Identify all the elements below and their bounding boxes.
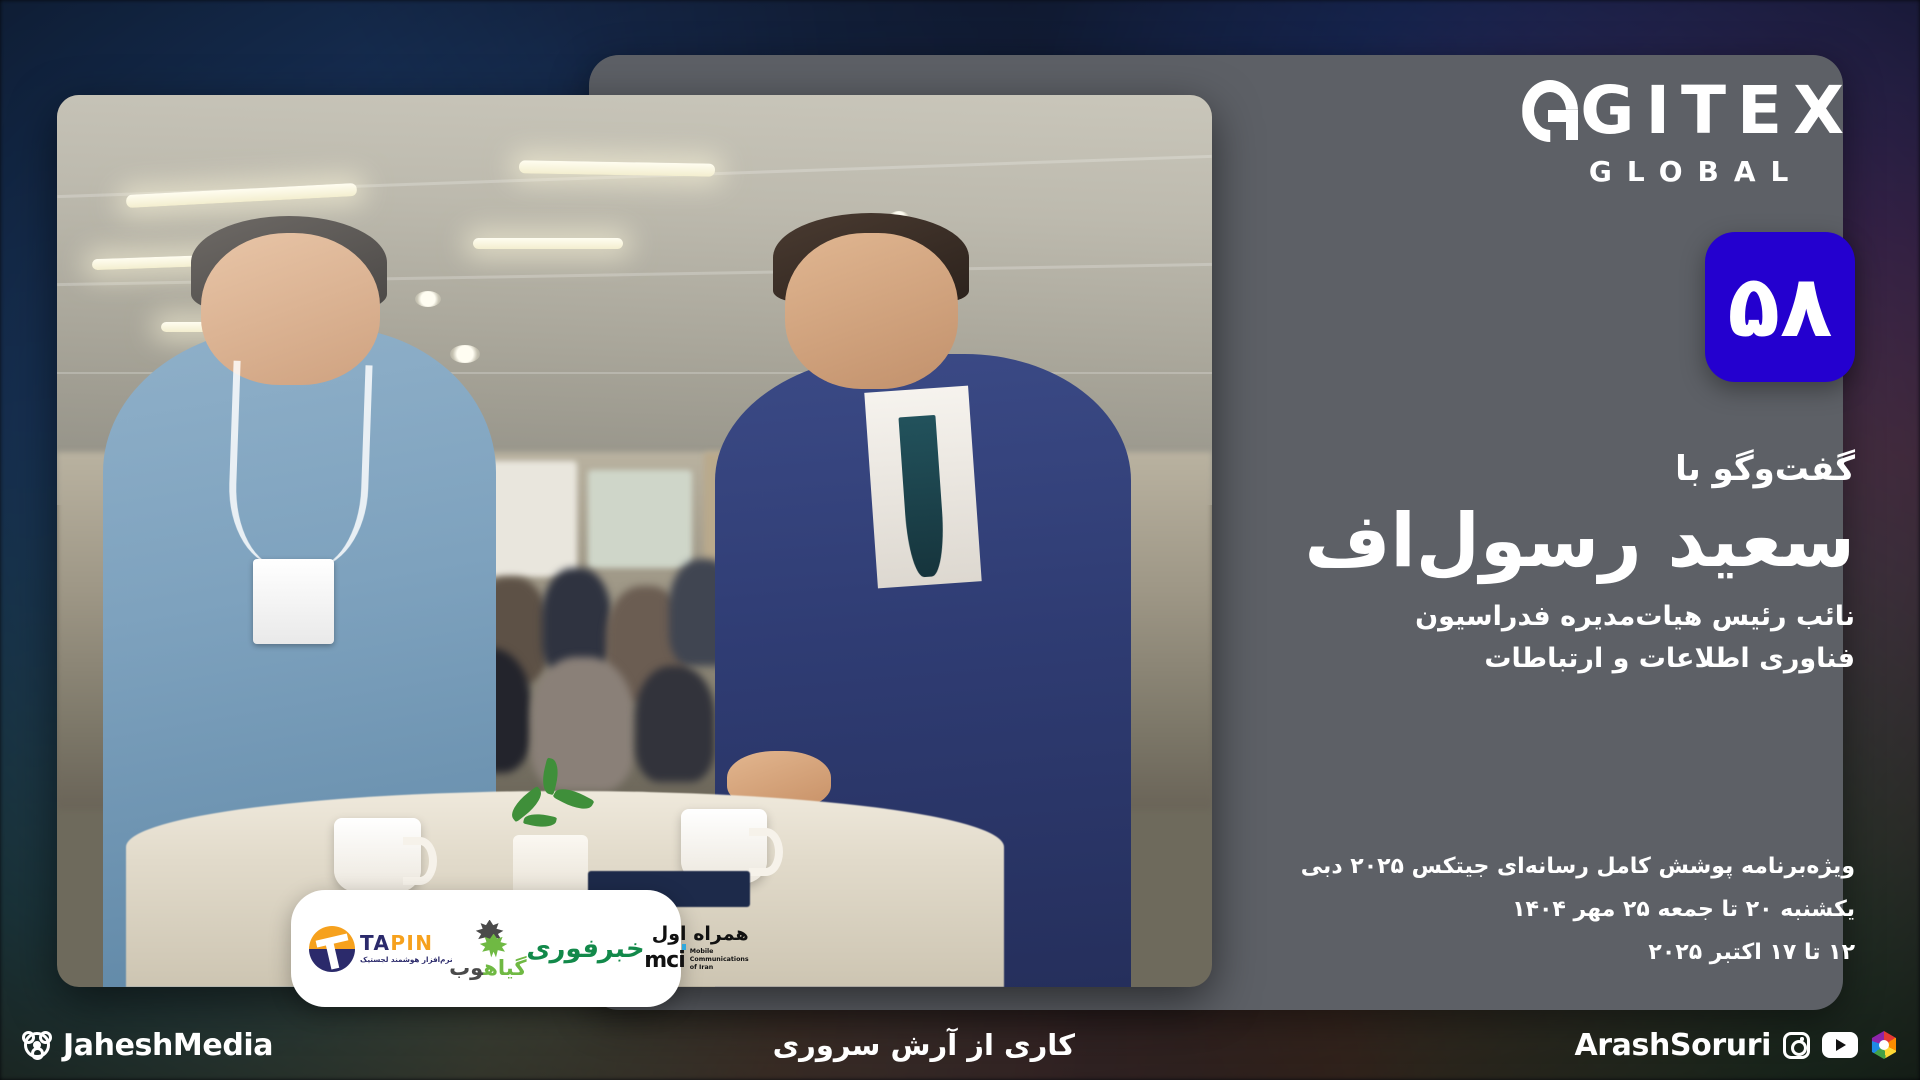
giahweb-word-dark: وب — [449, 956, 483, 980]
youtube-icon[interactable] — [1822, 1032, 1858, 1058]
handle-name: ArashSoruri — [1574, 1028, 1771, 1063]
mci-sub-2: Communications — [690, 956, 749, 964]
khabarfoori-word: خبرفوری — [525, 934, 646, 964]
studio-name: JaheshMedia — [63, 1028, 273, 1063]
schedule-line-3: ۱۲ تا ۱۷ اکتبر ۲۰۲۵ — [1155, 932, 1855, 975]
photo-mug-left — [334, 818, 421, 894]
studio-branding: JaheshMedia — [22, 1028, 273, 1063]
giahweb-word-light: گیاه — [483, 956, 526, 980]
guest-role-line-2: فناوری اطلاعات و ارتباطات — [1215, 638, 1855, 680]
social-handle-group: ArashSoruri — [1574, 1028, 1898, 1063]
credit-text: کاری از آرش سروری — [773, 1028, 1075, 1062]
guest-title-block: گفت‌وگو با سعید رسول‌اف نائب رئیس هیات‌م… — [1215, 452, 1855, 680]
schedule-block: ویژه‌برنامه پوشش کامل رسانه‌ای جیتکس ۲۰۲… — [1155, 846, 1855, 975]
schedule-line-1: ویژه‌برنامه پوشش کامل رسانه‌ای جیتکس ۲۰۲… — [1155, 846, 1855, 889]
mci-word-en: mci — [644, 950, 685, 972]
gitex-wordmark: GITEX — [1580, 78, 1855, 144]
sponsor-bar: TAPIN نرم‌افزار هوشمند لجستیک گیاهوب خبر… — [291, 890, 681, 1007]
mci-sub-3: of Iran — [690, 964, 749, 972]
episode-number: ۵۸ — [1728, 264, 1833, 350]
film-reel-icon — [22, 1030, 52, 1060]
mci-sub-1: Mobile — [690, 948, 749, 956]
tapin-word-b: PIN — [390, 931, 433, 955]
guest-name: سعید رسول‌اف — [1215, 502, 1855, 582]
interview-prefix: گفت‌وگو با — [1215, 452, 1855, 486]
gitex-global-logo: GITEX GLOBAL — [1522, 78, 1855, 186]
tapin-tagline: نرم‌افزار هوشمند لجستیک — [360, 956, 453, 963]
sponsor-logo-giahweb: گیاهوب — [453, 920, 527, 978]
aparat-icon[interactable] — [1870, 1031, 1898, 1059]
episode-number-badge: ۵۸ — [1705, 232, 1855, 382]
mci-word-fa: همراه اول — [644, 925, 748, 944]
sponsor-logo-khabarfoori: خبرفوری — [527, 934, 645, 964]
interview-photo — [57, 95, 1212, 987]
schedule-line-2: یکشنبه ۲۰ تا جمعه ۲۵ مهر ۱۴۰۴ — [1155, 889, 1855, 932]
photo-badge-left — [253, 559, 334, 644]
instagram-icon[interactable] — [1783, 1032, 1810, 1059]
tapin-mark-icon — [309, 926, 355, 972]
gitex-g-mark-icon — [1522, 80, 1578, 142]
tapin-word-a: TA — [360, 931, 390, 955]
gitex-subwordmark: GLOBAL — [1522, 158, 1855, 186]
sponsor-logo-mci: همراه اول mci Mobile Communications of I… — [644, 925, 748, 973]
footer-bar: JaheshMedia کاری از آرش سروری ArashSorur… — [0, 1010, 1920, 1080]
guest-role-line-1: نائب رئیس هیات‌مدیره فدراسیون — [1215, 596, 1855, 638]
sponsor-logo-tapin: TAPIN نرم‌افزار هوشمند لجستیک — [309, 926, 453, 972]
